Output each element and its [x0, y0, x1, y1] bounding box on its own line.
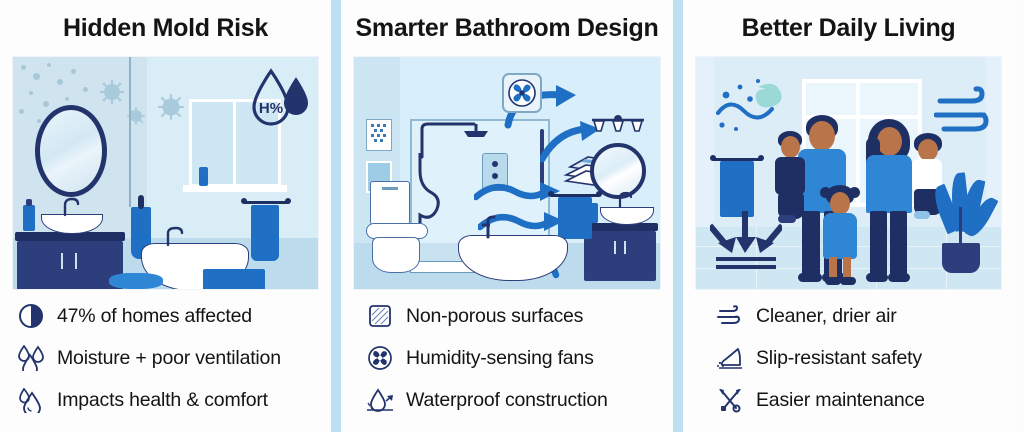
exhaust-fan-icon — [507, 78, 537, 108]
mold-spore — [47, 63, 51, 67]
mold-spore — [29, 91, 33, 95]
list-item: Slip-resistant safety — [715, 340, 1014, 376]
list-item-label: Cleaner, drier air — [756, 305, 897, 328]
bullet-list: Non-porous surfaces Humidi — [341, 290, 673, 418]
mold-spore — [37, 119, 41, 123]
wall-seam — [129, 57, 131, 207]
towel-bar-knob — [241, 198, 247, 204]
panel-smarter-bathroom-design: Smarter Bathroom Design — [341, 0, 673, 432]
legs — [870, 211, 887, 277]
vanity-cabinet — [17, 241, 123, 290]
soap-bottle — [23, 205, 35, 231]
legs — [843, 257, 851, 279]
list-item-label: Impacts health & comfort — [57, 389, 268, 412]
mold-spore — [21, 65, 26, 70]
page-title: Better Daily Living — [742, 0, 956, 56]
shirt — [775, 157, 805, 195]
towel-bar — [243, 201, 289, 204]
list-item: Cleaner, drier air — [715, 298, 1014, 334]
mold-spore — [19, 109, 24, 114]
towel-bar-knob — [758, 155, 764, 161]
tub-foot — [155, 289, 162, 290]
shoe — [914, 211, 930, 219]
tub-towel — [251, 205, 279, 261]
water-droplets-icon — [16, 343, 46, 373]
mold-spore — [71, 69, 76, 74]
shoe — [866, 273, 888, 282]
humidity-droplet-badge: H% — [249, 65, 311, 131]
panel-better-daily-living: Better Daily Living — [683, 0, 1014, 432]
bullet-list: 47% of homes affected Moisture + poor ve… — [0, 290, 331, 418]
mold-spore — [33, 73, 40, 80]
toilet-bowl — [372, 237, 420, 273]
ventilated-bathroom-illustration — [353, 56, 661, 290]
list-item: Impacts health & comfort — [16, 382, 331, 418]
list-item-label: Humidity-sensing fans — [406, 347, 594, 370]
shoe — [840, 277, 856, 285]
panel-hidden-mold-risk: Hidden Mold Risk — [0, 0, 331, 432]
wall-art-pattern — [370, 123, 388, 147]
list-item-label: Waterproof construction — [406, 389, 608, 412]
waterproof-droplet-icon — [365, 385, 395, 415]
mold-spore — [83, 87, 88, 92]
wind-lines-icon — [715, 301, 745, 331]
page-title: Hidden Mold Risk — [63, 0, 268, 56]
window-mullion — [233, 102, 236, 184]
faucet-icon — [61, 195, 83, 217]
family-in-clean-bathroom-illustration — [695, 56, 1002, 290]
list-item: Easier maintenance — [715, 382, 1014, 418]
shirt — [866, 155, 912, 213]
water-puddle — [109, 273, 163, 289]
vanity-light-icon — [586, 115, 650, 137]
person-boy — [770, 131, 810, 227]
shoe — [825, 277, 841, 285]
head — [809, 121, 835, 151]
fresh-air-swirl-icon — [714, 73, 792, 137]
page-title: Smarter Bathroom Design — [356, 0, 659, 56]
towel-bar — [712, 158, 762, 161]
soap-pump — [26, 199, 32, 206]
list-item-label: Slip-resistant safety — [756, 347, 922, 370]
vanity-handle — [624, 241, 626, 254]
moldy-bathroom-illustration: H% — [12, 56, 319, 290]
list-item: Waterproof construction — [365, 382, 673, 418]
wind-lines-icon — [934, 85, 998, 141]
vanity-handle — [61, 253, 63, 269]
head — [781, 136, 800, 158]
plant-stem — [959, 207, 962, 247]
legs — [890, 211, 907, 277]
list-item-label: 47% of homes affected — [57, 305, 252, 328]
slip-resistant-shoe-icon — [715, 343, 745, 373]
panel-divider — [673, 0, 683, 432]
hair-bun — [849, 187, 860, 198]
infographic-board: Hidden Mold Risk — [0, 0, 1024, 432]
list-item: 47% of homes affected — [16, 298, 331, 334]
single-droplet-icon — [16, 385, 46, 415]
towel-bar-knob — [285, 198, 291, 204]
list-item-label: Non-porous surfaces — [406, 305, 583, 328]
dress — [823, 213, 857, 259]
towel-bar-knob — [710, 155, 716, 161]
towel-bar — [550, 194, 600, 197]
list-item-label: Easier maintenance — [756, 389, 925, 412]
list-item-label: Moisture + poor ventilation — [57, 347, 281, 370]
hair-bun — [820, 187, 831, 198]
head — [918, 139, 938, 161]
hanging-towel — [558, 197, 592, 239]
list-item: Non-porous surfaces — [365, 298, 673, 334]
mold-spore — [65, 97, 69, 101]
mold-spore — [43, 101, 49, 107]
vanity-handle — [75, 253, 77, 269]
control-knob — [492, 161, 498, 167]
pie-chart-half-icon — [16, 301, 46, 331]
exhaust-fan-icon — [365, 343, 395, 373]
oval-mirror — [35, 105, 107, 197]
person-girl — [818, 185, 862, 287]
towel-hook — [138, 195, 144, 209]
head — [830, 192, 850, 215]
window-sill — [183, 185, 287, 192]
shower-hose — [412, 153, 446, 229]
shoe — [778, 215, 796, 223]
tub-faucet-icon — [163, 225, 187, 247]
towel-bar-knob — [596, 191, 602, 197]
hatched-tile-surface-icon — [365, 301, 395, 331]
faucet-icon — [616, 189, 636, 209]
panel-divider — [331, 0, 341, 432]
bath-mat — [203, 269, 265, 290]
mold-spore-large — [155, 91, 187, 123]
list-item: Humidity-sensing fans — [365, 340, 673, 376]
vanity-cabinet — [584, 231, 656, 281]
head — [877, 127, 902, 156]
tub-faucet-icon — [480, 215, 500, 239]
mold-spore-large — [97, 77, 127, 107]
window-bottle — [199, 167, 208, 186]
plant-pot — [942, 243, 980, 273]
wrench-screwdriver-icon — [715, 385, 745, 415]
vanity-handle — [614, 241, 616, 254]
svg-text:H%: H% — [259, 100, 283, 117]
legs — [829, 257, 837, 279]
toilet-flush-button — [382, 187, 398, 190]
list-item: Moisture + poor ventilation — [16, 340, 331, 376]
shoe — [888, 273, 910, 282]
mold-spore — [57, 79, 63, 85]
bullet-list: Cleaner, drier air Slip-resistant safety — [683, 290, 1014, 418]
towel-bar-knob — [548, 191, 554, 197]
tub-foot — [229, 289, 236, 290]
